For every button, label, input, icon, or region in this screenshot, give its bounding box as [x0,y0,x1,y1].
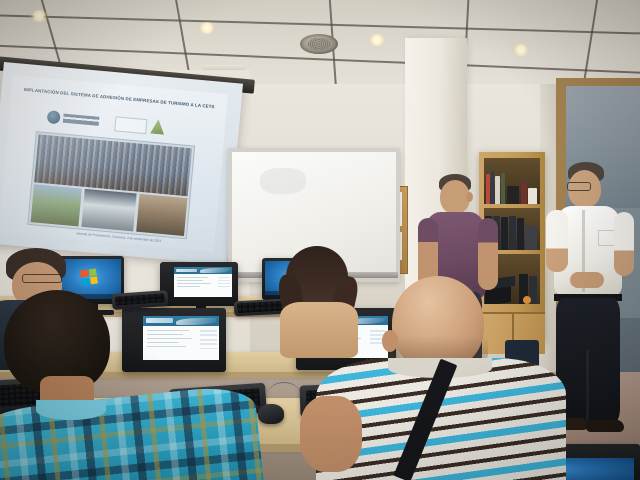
ceiling-downlight [198,22,216,34]
web-page [143,316,219,360]
monitor-front-left[interactable] [122,308,226,372]
arm [300,396,362,472]
ear [466,192,473,202]
whiteboard-smudge [260,168,306,194]
projected-slide: IMPLANTACIÓN DEL SISTEMA DE ADHESIÓN DE … [0,75,228,252]
shoe [586,420,624,432]
bookcase-orange-item [523,296,531,304]
monitor-mid-left[interactable] [160,262,238,306]
slide-photo-room [81,189,136,232]
leg-split [586,350,589,424]
computer-mouse[interactable] [258,404,284,424]
logo-secondary [114,116,147,134]
arm-right [478,218,498,290]
keyboard-back-center[interactable] [234,299,287,317]
windows-logo-icon [80,268,98,285]
ear [382,330,398,352]
site-logo [146,318,173,323]
web-page [174,267,232,297]
slide-title: IMPLANTACIÓN DEL SISTEMA DE ADHESIÓN DE … [19,86,219,111]
logo-tertiary [150,119,165,135]
hands [570,272,604,288]
ceiling-downlight [368,34,386,46]
classroom-scene: IMPLANTACIÓN DEL SISTEMA DE ADHESIÓN DE … [0,0,640,480]
torso [280,302,358,358]
eyeglasses-icon [22,274,62,283]
logo-primary-text [63,114,100,126]
slide-photo-field [31,184,82,226]
monitor-mid-left-screen [174,267,232,297]
site-logo [176,269,197,273]
arm-right [614,212,634,276]
projector-screen: IMPLANTACIÓN DEL SISTEMA DE ADHESIÓN DE … [0,62,243,265]
bookcase-shelf-top [485,160,539,204]
monitor-front-left-screen [143,316,219,360]
slide-photo-collage [27,131,195,239]
logo-primary-mark [47,110,61,124]
slide-photo-outdoor [136,194,187,236]
mouse-cord [268,382,300,405]
air-vent-icon [300,34,338,54]
collar [36,400,106,420]
ceiling-downlight [30,10,48,22]
ceiling-downlight [512,44,530,56]
arm-left [546,210,568,272]
eyeglasses-icon [567,182,591,191]
